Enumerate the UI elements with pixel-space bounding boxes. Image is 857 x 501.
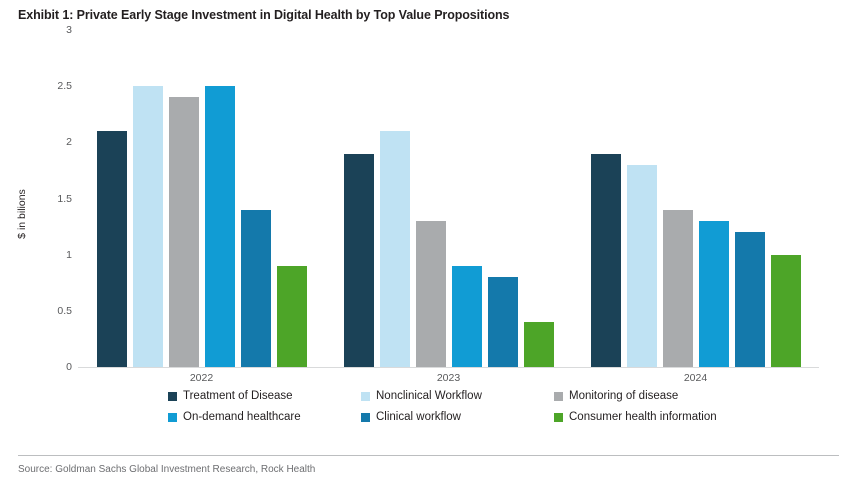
bar[interactable] — [241, 210, 271, 367]
source-note: Source: Goldman Sachs Global Investment … — [18, 464, 315, 475]
legend-swatch-icon — [554, 392, 563, 401]
bar[interactable] — [133, 86, 163, 367]
y-axis-tick-label: 1.5 — [57, 193, 72, 205]
bar-groups — [78, 30, 819, 367]
legend-item[interactable]: Consumer health information — [554, 411, 737, 423]
x-axis-tick-label: 2024 — [572, 372, 819, 384]
x-axis-tick-label: 2023 — [325, 372, 572, 384]
y-axis-tick-label: 0.5 — [57, 305, 72, 317]
legend-label: Treatment of Disease — [183, 390, 293, 402]
legend-label: Monitoring of disease — [569, 390, 678, 402]
y-axis-tick-label: 0 — [66, 361, 72, 373]
page-title: Exhibit 1: Private Early Stage Investmen… — [18, 8, 857, 22]
legend-swatch-icon — [168, 392, 177, 401]
bar[interactable] — [97, 131, 127, 367]
bar-group-2022 — [78, 30, 325, 367]
legend-item[interactable]: Nonclinical Workflow — [361, 390, 554, 402]
bar[interactable] — [699, 221, 729, 367]
bar[interactable] — [380, 131, 410, 367]
legend-label: On-demand healthcare — [183, 411, 301, 423]
bar-group-2024 — [572, 30, 819, 367]
bar[interactable] — [524, 322, 554, 367]
y-axis-tick-label: 3 — [66, 24, 72, 36]
bar[interactable] — [591, 154, 621, 367]
bar-group-2023 — [325, 30, 572, 367]
bar[interactable] — [771, 255, 801, 367]
footer-divider — [18, 455, 839, 456]
legend-swatch-icon — [168, 413, 177, 422]
legend-label: Nonclinical Workflow — [376, 390, 482, 402]
bar[interactable] — [344, 154, 374, 367]
legend-item[interactable]: Treatment of Disease — [168, 390, 361, 402]
bar[interactable] — [627, 165, 657, 367]
bar[interactable] — [735, 232, 765, 367]
title-bar: Exhibit 1: Private Early Stage Investmen… — [0, 0, 857, 28]
bar[interactable] — [169, 97, 199, 367]
bar[interactable] — [452, 266, 482, 367]
chart-plot-area: $ in bilions 00.511.522.53 202220232024 — [0, 30, 857, 385]
bar[interactable] — [663, 210, 693, 367]
exhibit-container: Exhibit 1: Private Early Stage Investmen… — [0, 0, 857, 501]
bar[interactable] — [416, 221, 446, 367]
bar[interactable] — [205, 86, 235, 367]
legend-swatch-icon — [361, 413, 370, 422]
x-axis-tick-labels: 202220232024 — [78, 372, 819, 384]
legend-swatch-icon — [361, 392, 370, 401]
x-axis-line — [78, 367, 819, 368]
y-axis-title: $ in bilions — [16, 189, 28, 239]
legend-label: Consumer health information — [569, 411, 717, 423]
bar[interactable] — [277, 266, 307, 367]
bar[interactable] — [488, 277, 518, 367]
y-axis-tick-label: 2 — [66, 136, 72, 148]
legend-item[interactable]: Monitoring of disease — [554, 390, 737, 402]
chart-legend: Treatment of DiseaseNonclinical Workflow… — [0, 390, 857, 423]
y-axis-tick-label: 2.5 — [57, 80, 72, 92]
x-axis-tick-label: 2022 — [78, 372, 325, 384]
legend-item[interactable]: On-demand healthcare — [168, 411, 361, 423]
y-axis-tick-label: 1 — [66, 249, 72, 261]
y-axis-tick-labels: 00.511.522.53 — [44, 30, 72, 370]
legend-swatch-icon — [554, 413, 563, 422]
legend-item[interactable]: Clinical workflow — [361, 411, 554, 423]
legend-label: Clinical workflow — [376, 411, 461, 423]
